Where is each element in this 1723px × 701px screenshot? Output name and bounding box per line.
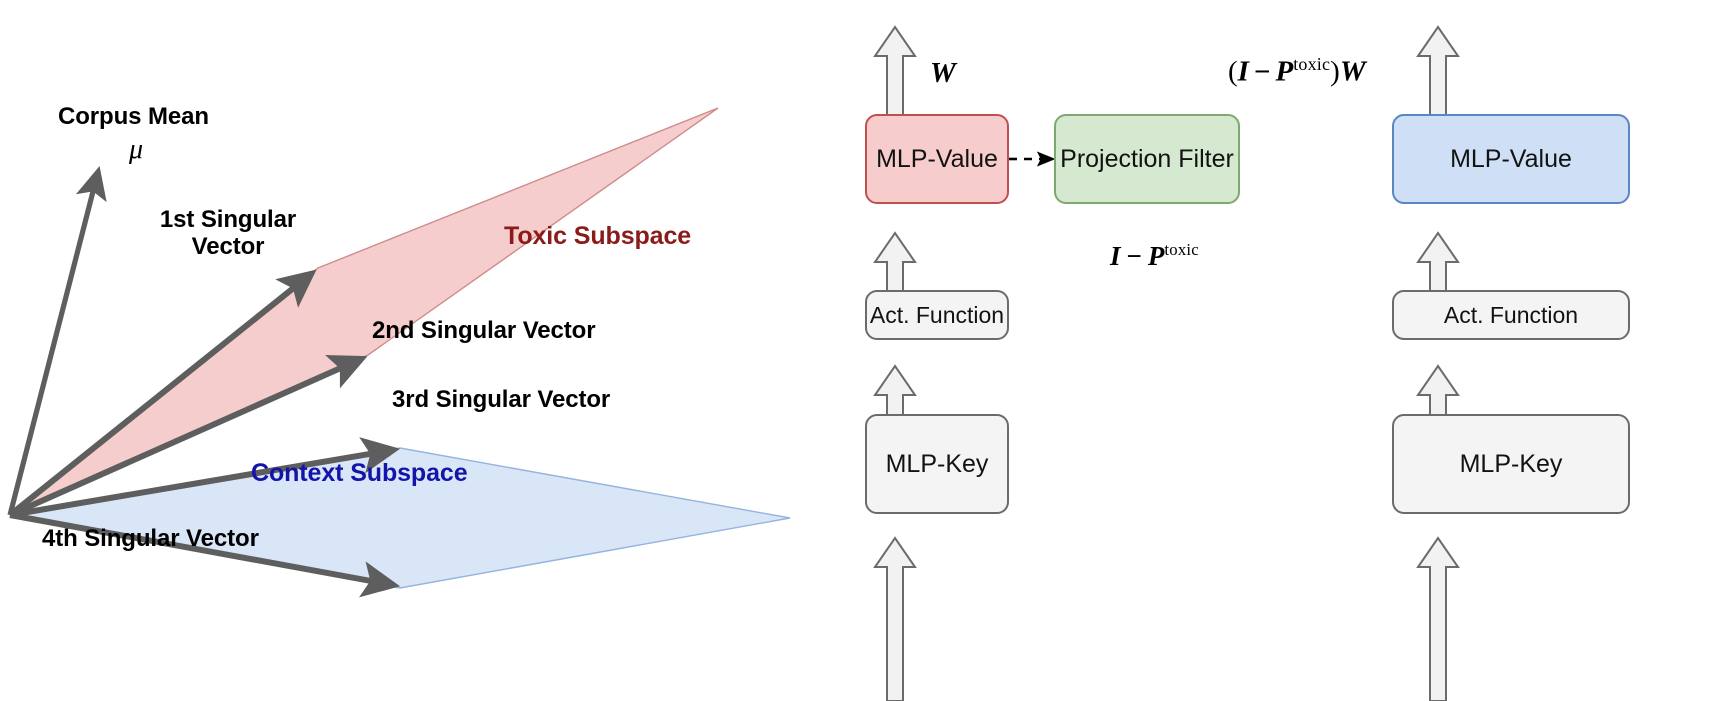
filter-caption-identity: I <box>1110 241 1121 271</box>
act-function-box-right-label: Act. Function <box>1444 302 1578 329</box>
first-singular-vector-label: 1st Singular Vector <box>143 207 313 261</box>
mlp-value-box-filtered-label: MLP-Value <box>1450 145 1572 174</box>
projection-filter-caption: I−Ptoxic <box>1110 240 1199 272</box>
filtered-weight-minus: − <box>1249 56 1276 88</box>
corpus-mean-symbol-label: μ <box>129 134 143 166</box>
mlp-key-box-right[interactable]: MLP-Key <box>1392 414 1630 514</box>
input-arrow-left <box>875 538 915 701</box>
filtered-weight-close-paren: ) <box>1330 56 1340 88</box>
mlp-key-box-left[interactable]: MLP-Key <box>865 414 1009 514</box>
mlp-value-box-original-label: MLP-Value <box>876 145 998 174</box>
corpus-mean-label: Corpus Mean <box>58 104 209 131</box>
filter-caption-superscript: toxic <box>1164 240 1198 259</box>
filter-caption-projection: P <box>1148 241 1165 271</box>
filtered-weight-projection: P <box>1276 56 1294 88</box>
toxic-subspace-label: Toxic Subspace <box>504 222 691 250</box>
filtered-weight-open-paren: ( <box>1228 56 1238 88</box>
singular-vector-subspace-diagram: Corpus Mean μ 1st Singular Vector 2nd Si… <box>0 0 800 701</box>
first-singular-vector-label-line2: Vector <box>143 234 313 261</box>
context-subspace-label: Context Subspace <box>251 459 468 487</box>
mlp-key-box-right-label: MLP-Key <box>1460 450 1563 479</box>
filtered-weight-superscript: toxic <box>1293 54 1330 74</box>
filtered-weight-matrix-label: (I−Ptoxic)W <box>1228 54 1366 89</box>
first-singular-vector-label-line1: 1st Singular <box>143 207 313 234</box>
mlp-key-box-left-label: MLP-Key <box>886 450 989 479</box>
projection-filter-box-label: Projection Filter <box>1060 145 1234 174</box>
mlp-value-box-filtered[interactable]: MLP-Value <box>1392 114 1630 204</box>
filter-caption-minus: − <box>1121 241 1148 271</box>
fourth-singular-vector-label: 4th Singular Vector <box>42 526 259 553</box>
input-arrow-right <box>1418 538 1458 701</box>
act-function-box-right[interactable]: Act. Function <box>1392 290 1630 340</box>
act-function-box-left-label: Act. Function <box>870 302 1004 329</box>
filtered-weight-identity: I <box>1238 56 1249 88</box>
weight-matrix-w: W <box>930 57 956 89</box>
weight-matrix-label: W <box>930 57 956 90</box>
act-function-box-left[interactable]: Act. Function <box>865 290 1009 340</box>
pipeline-arrow-canvas <box>760 0 1723 701</box>
third-singular-vector-label: 3rd Singular Vector <box>392 387 610 414</box>
mlp-value-box-original[interactable]: MLP-Value <box>865 114 1009 204</box>
figure-root: Corpus Mean μ 1st Singular Vector 2nd Si… <box>0 0 1723 701</box>
second-singular-vector-label: 2nd Singular Vector <box>372 318 596 345</box>
mlp-projection-filter-pipeline: MLP-Value Act. Function MLP-Key Projecti… <box>760 0 1723 701</box>
filtered-weight-w: W <box>1340 56 1366 88</box>
projection-filter-box[interactable]: Projection Filter <box>1054 114 1240 204</box>
